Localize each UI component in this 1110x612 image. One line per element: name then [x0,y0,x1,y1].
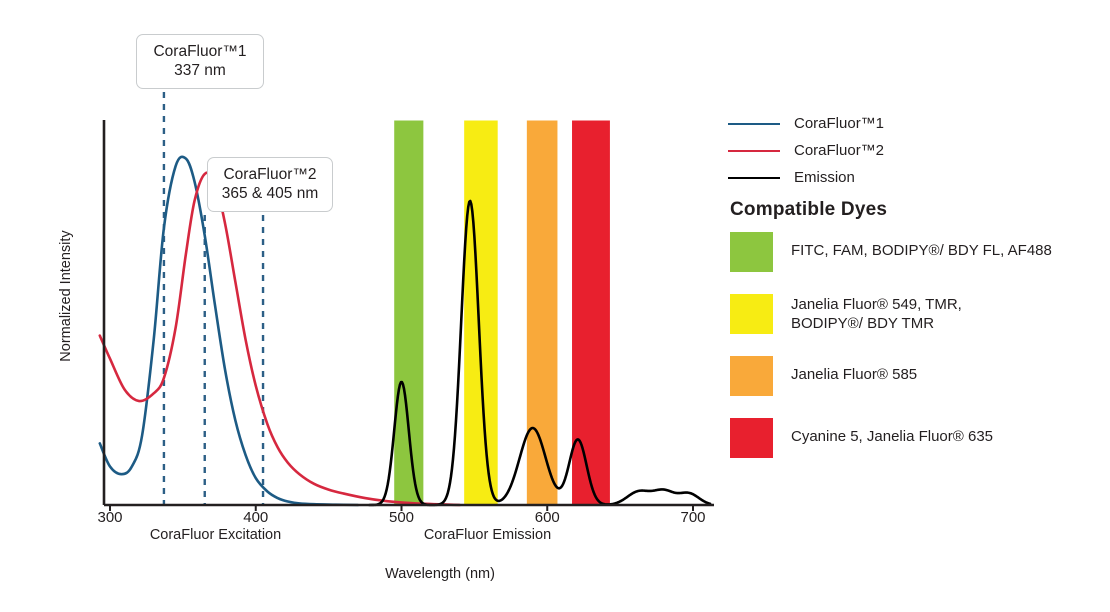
legend-label: CoraFluor™2 [794,142,884,159]
callout2-name: CoraFluor™2 [223,166,316,183]
green-band [394,121,423,506]
legend-item-1: CoraFluor™2 [728,137,1098,164]
dye-color-swatch [730,418,773,458]
dye-row-1: Janelia Fluor® 549, TMR,BODIPY®/ BDY TMR [730,294,1105,334]
dye-label: FITC, FAM, BODIPY®/ BDY FL, AF488 [791,232,1052,260]
yellow-band [464,121,498,506]
legend-item-0: CoraFluor™1 [728,110,1098,137]
spectra-figure: CoraFluor™1 337 nm CoraFluor™2 365 & 405… [0,0,1110,612]
legend-line-swatch-icon [728,150,780,152]
callout1-value: 337 nm [147,61,253,80]
dye-row-0: FITC, FAM, BODIPY®/ BDY FL, AF488 [730,232,1105,272]
callout-corafluor2: CoraFluor™2 365 & 405 nm [207,157,333,212]
x-axis-sublabel-emission: CoraFluor Emission [380,527,595,543]
x-tick-label-300: 300 [80,509,140,526]
dye-row-3: Cyanine 5, Janelia Fluor® 635 [730,418,1105,458]
dye-color-swatch [730,356,773,396]
x-tick-label-500: 500 [372,509,432,526]
compatible-dyes-list: FITC, FAM, BODIPY®/ BDY FL, AF488Janelia… [730,232,1105,480]
legend-label: CoraFluor™1 [794,115,884,132]
compatible-dyes-title: Compatible Dyes [730,199,887,221]
dye-color-swatch [730,294,773,334]
red-band [572,121,610,506]
dye-row-2: Janelia Fluor® 585 [730,356,1105,396]
legend-item-2: Emission [728,164,1098,191]
x-tick-label-400: 400 [226,509,286,526]
series-legend: CoraFluor™1CoraFluor™2Emission [728,110,1098,191]
callout1-name: CoraFluor™1 [153,43,246,60]
x-axis-sublabel-excitation: CoraFluor Excitation [108,527,323,543]
legend-line-swatch-icon [728,177,780,179]
legend-line-swatch-icon [728,123,780,125]
dye-color-swatch [730,232,773,272]
dye-label: Janelia Fluor® 585 [791,356,917,384]
legend-label: Emission [794,169,855,186]
y-axis-label: Normalized Intensity [58,206,74,386]
x-tick-label-700: 700 [663,509,723,526]
x-axis-label: Wavelength (nm) [290,566,590,582]
callout-corafluor1: CoraFluor™1 337 nm [136,34,264,89]
dye-label: Janelia Fluor® 549, TMR,BODIPY®/ BDY TMR [791,294,962,333]
x-tick-label-600: 600 [517,509,577,526]
callout2-value: 365 & 405 nm [218,184,322,203]
dye-label: Cyanine 5, Janelia Fluor® 635 [791,418,993,446]
